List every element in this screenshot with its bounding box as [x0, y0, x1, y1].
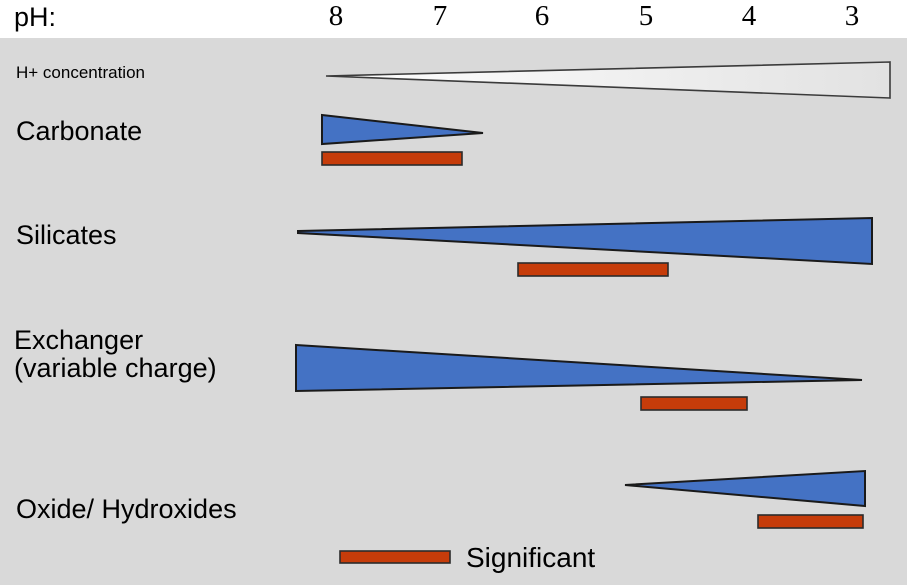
- ph-tick-5: 5: [626, 2, 666, 31]
- ph-tick-4: 4: [729, 2, 769, 31]
- row-label-oxide-hydroxides: Oxide/ Hydroxides: [16, 495, 237, 523]
- legend-significant-swatch: [340, 551, 450, 563]
- ph-tick-7: 7: [420, 2, 460, 31]
- ph-buffering-diagram: pH: 876543 H+ concentrationCarbonateSili…: [0, 0, 907, 585]
- row-label-hplus: H+ concentration: [16, 64, 145, 82]
- ph-tick-6: 6: [522, 2, 562, 31]
- legend-swatch-group: [340, 551, 450, 563]
- row-label-carbonate: Carbonate: [16, 117, 142, 145]
- significant-bar-oxide-hydroxides: [758, 515, 863, 528]
- row-label-exchanger: Exchanger (variable charge): [14, 326, 217, 383]
- significant-bar-carbonate: [322, 152, 462, 165]
- significant-bar-exchanger: [641, 397, 747, 410]
- ph-tick-8: 8: [316, 2, 356, 31]
- significant-bar-silicates: [518, 263, 668, 276]
- ph-axis-label: pH:: [14, 4, 56, 31]
- ph-tick-3: 3: [832, 2, 872, 31]
- row-label-silicates: Silicates: [16, 221, 117, 249]
- legend-significant-label: Significant: [466, 544, 595, 572]
